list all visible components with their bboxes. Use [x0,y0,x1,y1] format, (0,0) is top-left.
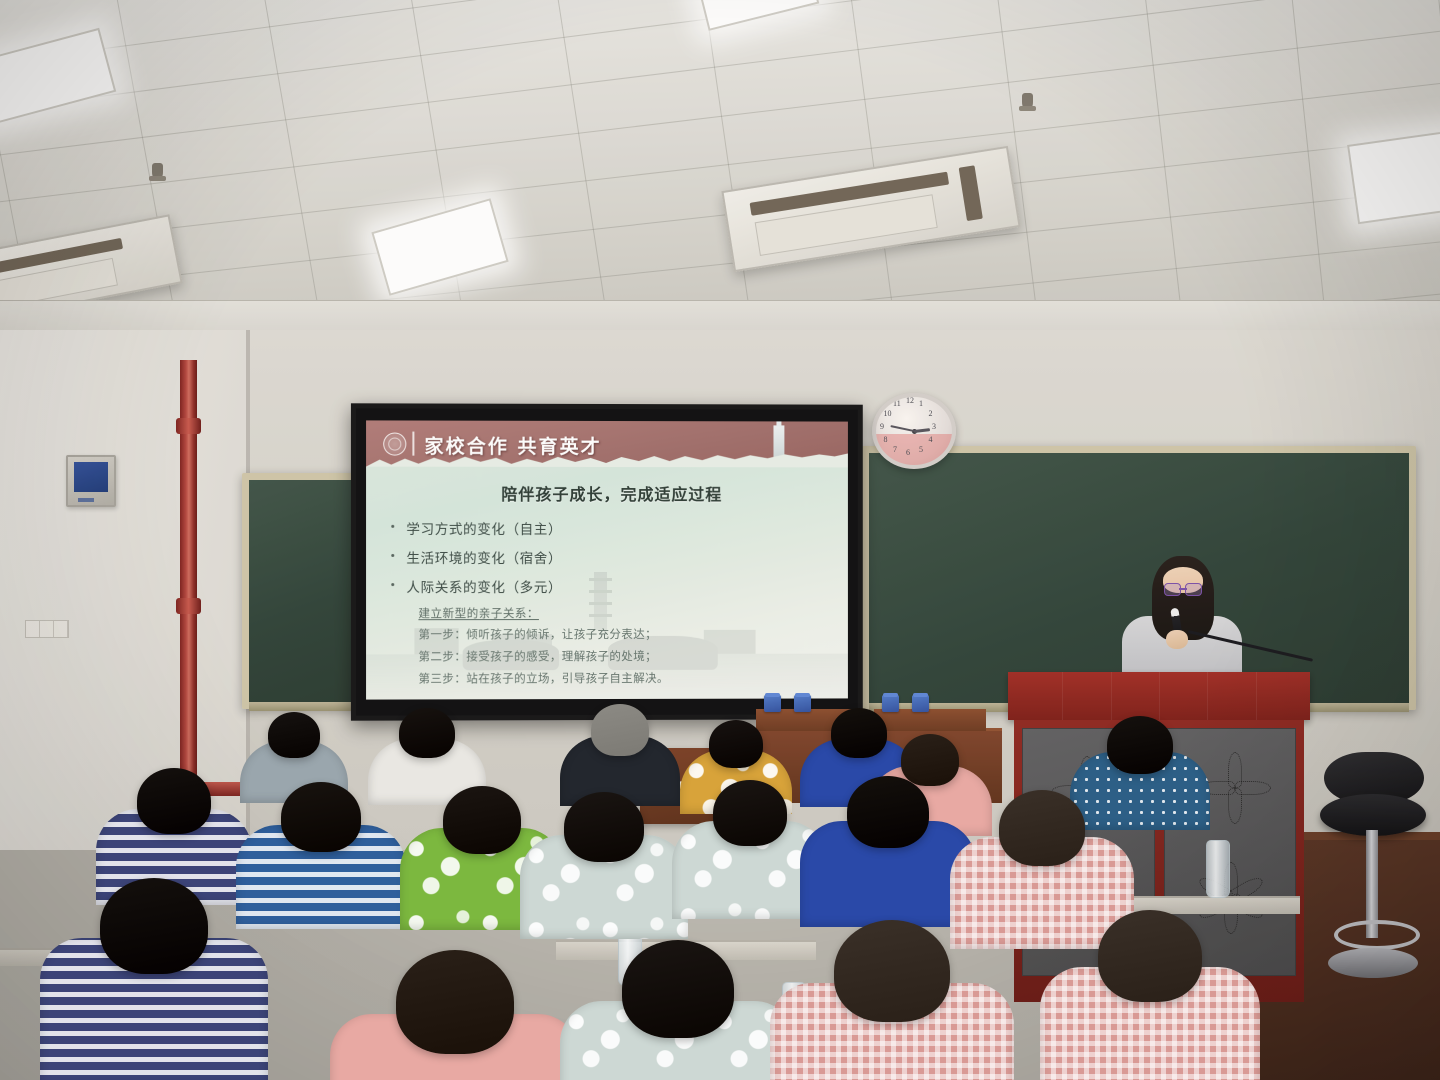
speaker-hair [1152,556,1214,640]
presentation-slide: 家校合作 共育英才 陪伴孩子成长，完成适应过程 学习方式的变化（自主） 生活环境… [366,420,848,699]
wall-clock: 121234567891011 [872,393,956,469]
attendee-head [399,708,455,758]
attendee-pink-polo [330,950,580,1080]
slide-step: 第一步：倾听孩子的倾诉，让孩子充分表达； [418,626,832,643]
attendee-teal-floral-blouse [560,940,796,1080]
slide-title: 陪伴孩子成长，完成适应过程 [390,481,832,506]
attendee-head [268,712,320,758]
clock-numeral: 5 [919,445,923,454]
clock-numeral: 9 [880,422,884,431]
clock-hour-hand [914,428,930,432]
slide-step: 第三步：站在孩子的立场，引导孩子自主解决。 [418,670,832,687]
attendee-head [137,768,211,834]
sprinkler-head [1022,93,1033,111]
ceiling-light-panel [1347,128,1440,224]
clock-minute-hand [890,425,914,432]
control-panel-label [78,498,94,502]
clock-numeral: 1 [919,399,923,408]
attendee-head [834,920,950,1022]
attendee-head [443,786,521,854]
slide-header-banner: 家校合作 共育英才 [366,420,848,467]
speaker-hand [1166,630,1188,649]
slide-bullet: 学习方式的变化（自主） [384,518,832,538]
control-panel-screen [74,462,108,492]
clock-numeral: 7 [893,445,897,454]
projection-screen: 家校合作 共育英才 陪伴孩子成长，完成适应过程 学习方式的变化（自主） 生活环境… [351,403,863,720]
clock-numeral: 8 [883,435,887,444]
attendee-head [847,776,929,848]
clock-numeral: 2 [929,409,933,418]
speaker-at-podium [1122,556,1242,680]
attendee-pink-check-shirt [1040,910,1260,1080]
slide-sub-heading: 建立新型的亲子关系： [418,605,832,621]
ceiling-tile-grid [0,0,1440,330]
lecture-hall-photo: 121234567891011 家校合作 共育英才 [0,0,1440,1080]
eyeglasses-icon [1164,583,1202,594]
attendee-head [622,940,734,1038]
slide-bullet-list: 学习方式的变化（自主） 生活环境的变化（宿舍） 人际关系的变化（多元） [384,518,832,596]
attendee-head [1107,716,1173,774]
clock-numeral: 4 [929,435,933,444]
attendee-head [281,782,361,852]
torn-paper-edge [366,453,848,468]
attendee-head [100,878,208,974]
attendee-head [709,720,763,768]
attendee-head [396,950,514,1054]
attendee-head [1098,910,1202,1002]
slide-body: 陪伴孩子成长，完成适应过程 学习方式的变化（自主） 生活环境的变化（宿舍） 人际… [366,467,848,700]
attendee-head [564,792,644,862]
attendee-pink-check-shirt [770,920,1014,1080]
clock-numeral: 11 [893,399,901,408]
attendee-navy-striped-polo [40,878,268,1080]
attendee-head [713,780,787,846]
wall-control-panel[interactable] [66,455,116,507]
slide-bullet: 人际关系的变化（多元） [384,576,832,596]
slide-step-list: 第一步：倾听孩子的倾诉，让孩子充分表达； 第二步：接受孩子的感受，理解孩子的处境… [384,626,832,687]
ceiling [0,0,1440,330]
light-switch-plate[interactable] [25,620,69,638]
clock-numeral: 12 [906,396,914,405]
seated-audience [0,690,1440,1080]
clock-numeral: 10 [883,409,891,418]
slide-step: 第二步：接受孩子的感受，理解孩子的处境； [418,648,832,665]
sprinkler-head [152,163,163,181]
attendee-head [999,790,1085,866]
clock-numeral: 3 [932,422,936,431]
slide-bullet: 生活环境的变化（宿舍） [384,547,832,567]
clock-numeral: 6 [906,448,910,457]
attendee-head [591,704,649,756]
